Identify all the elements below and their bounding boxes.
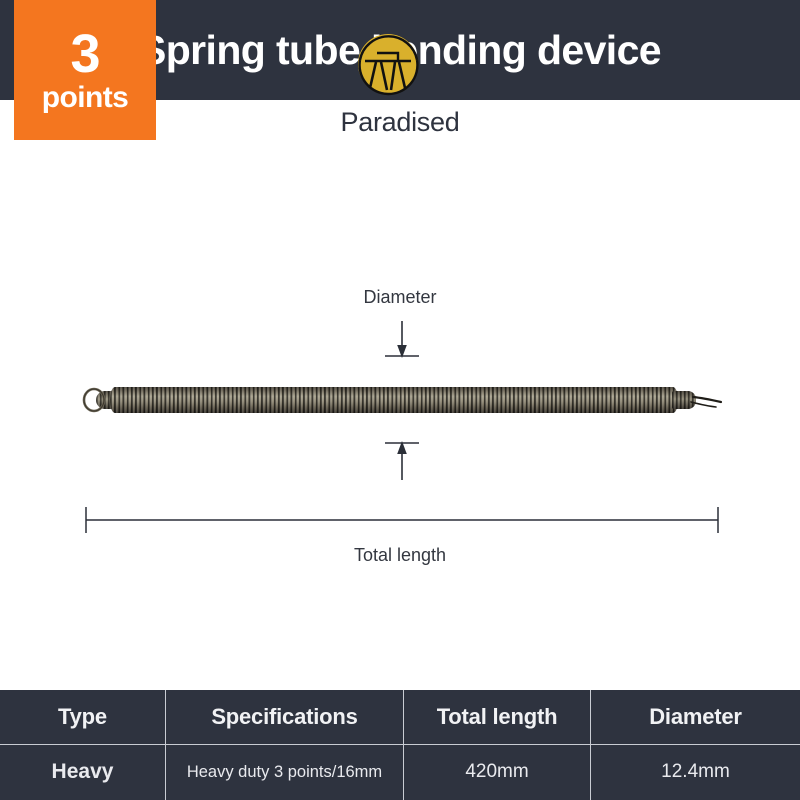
cell-specifications: Heavy duty 3 points/16mm [165, 745, 403, 800]
product-diagram: Diameter Total length [0, 150, 800, 690]
spring-end-hooks [80, 378, 725, 422]
table-header-row: Type Specifications Total length Diamete… [0, 690, 800, 745]
product-spec-page: Spring tube bending device 3 points Para… [0, 0, 800, 800]
cell-diameter: 12.4mm [590, 745, 800, 800]
points-badge-number: 3 [70, 27, 99, 81]
table-row: Heavy Heavy duty 3 points/16mm 420mm 12.… [0, 745, 800, 800]
points-badge-label: points [42, 83, 128, 113]
specifications-table: Type Specifications Total length Diamete… [0, 690, 800, 800]
points-badge: 3 points [14, 0, 156, 140]
table-header-specifications: Specifications [165, 690, 403, 744]
coil-spring-icon [80, 378, 725, 422]
table-header-diameter: Diameter [590, 690, 800, 744]
bending-device-logo-icon [351, 26, 425, 100]
cell-type: Heavy [0, 745, 165, 800]
table-header-type: Type [0, 690, 165, 744]
brand-subtitle-text: Paradised [341, 107, 460, 138]
table-header-total-length: Total length [403, 690, 590, 744]
cell-total-length: 420mm [403, 745, 590, 800]
